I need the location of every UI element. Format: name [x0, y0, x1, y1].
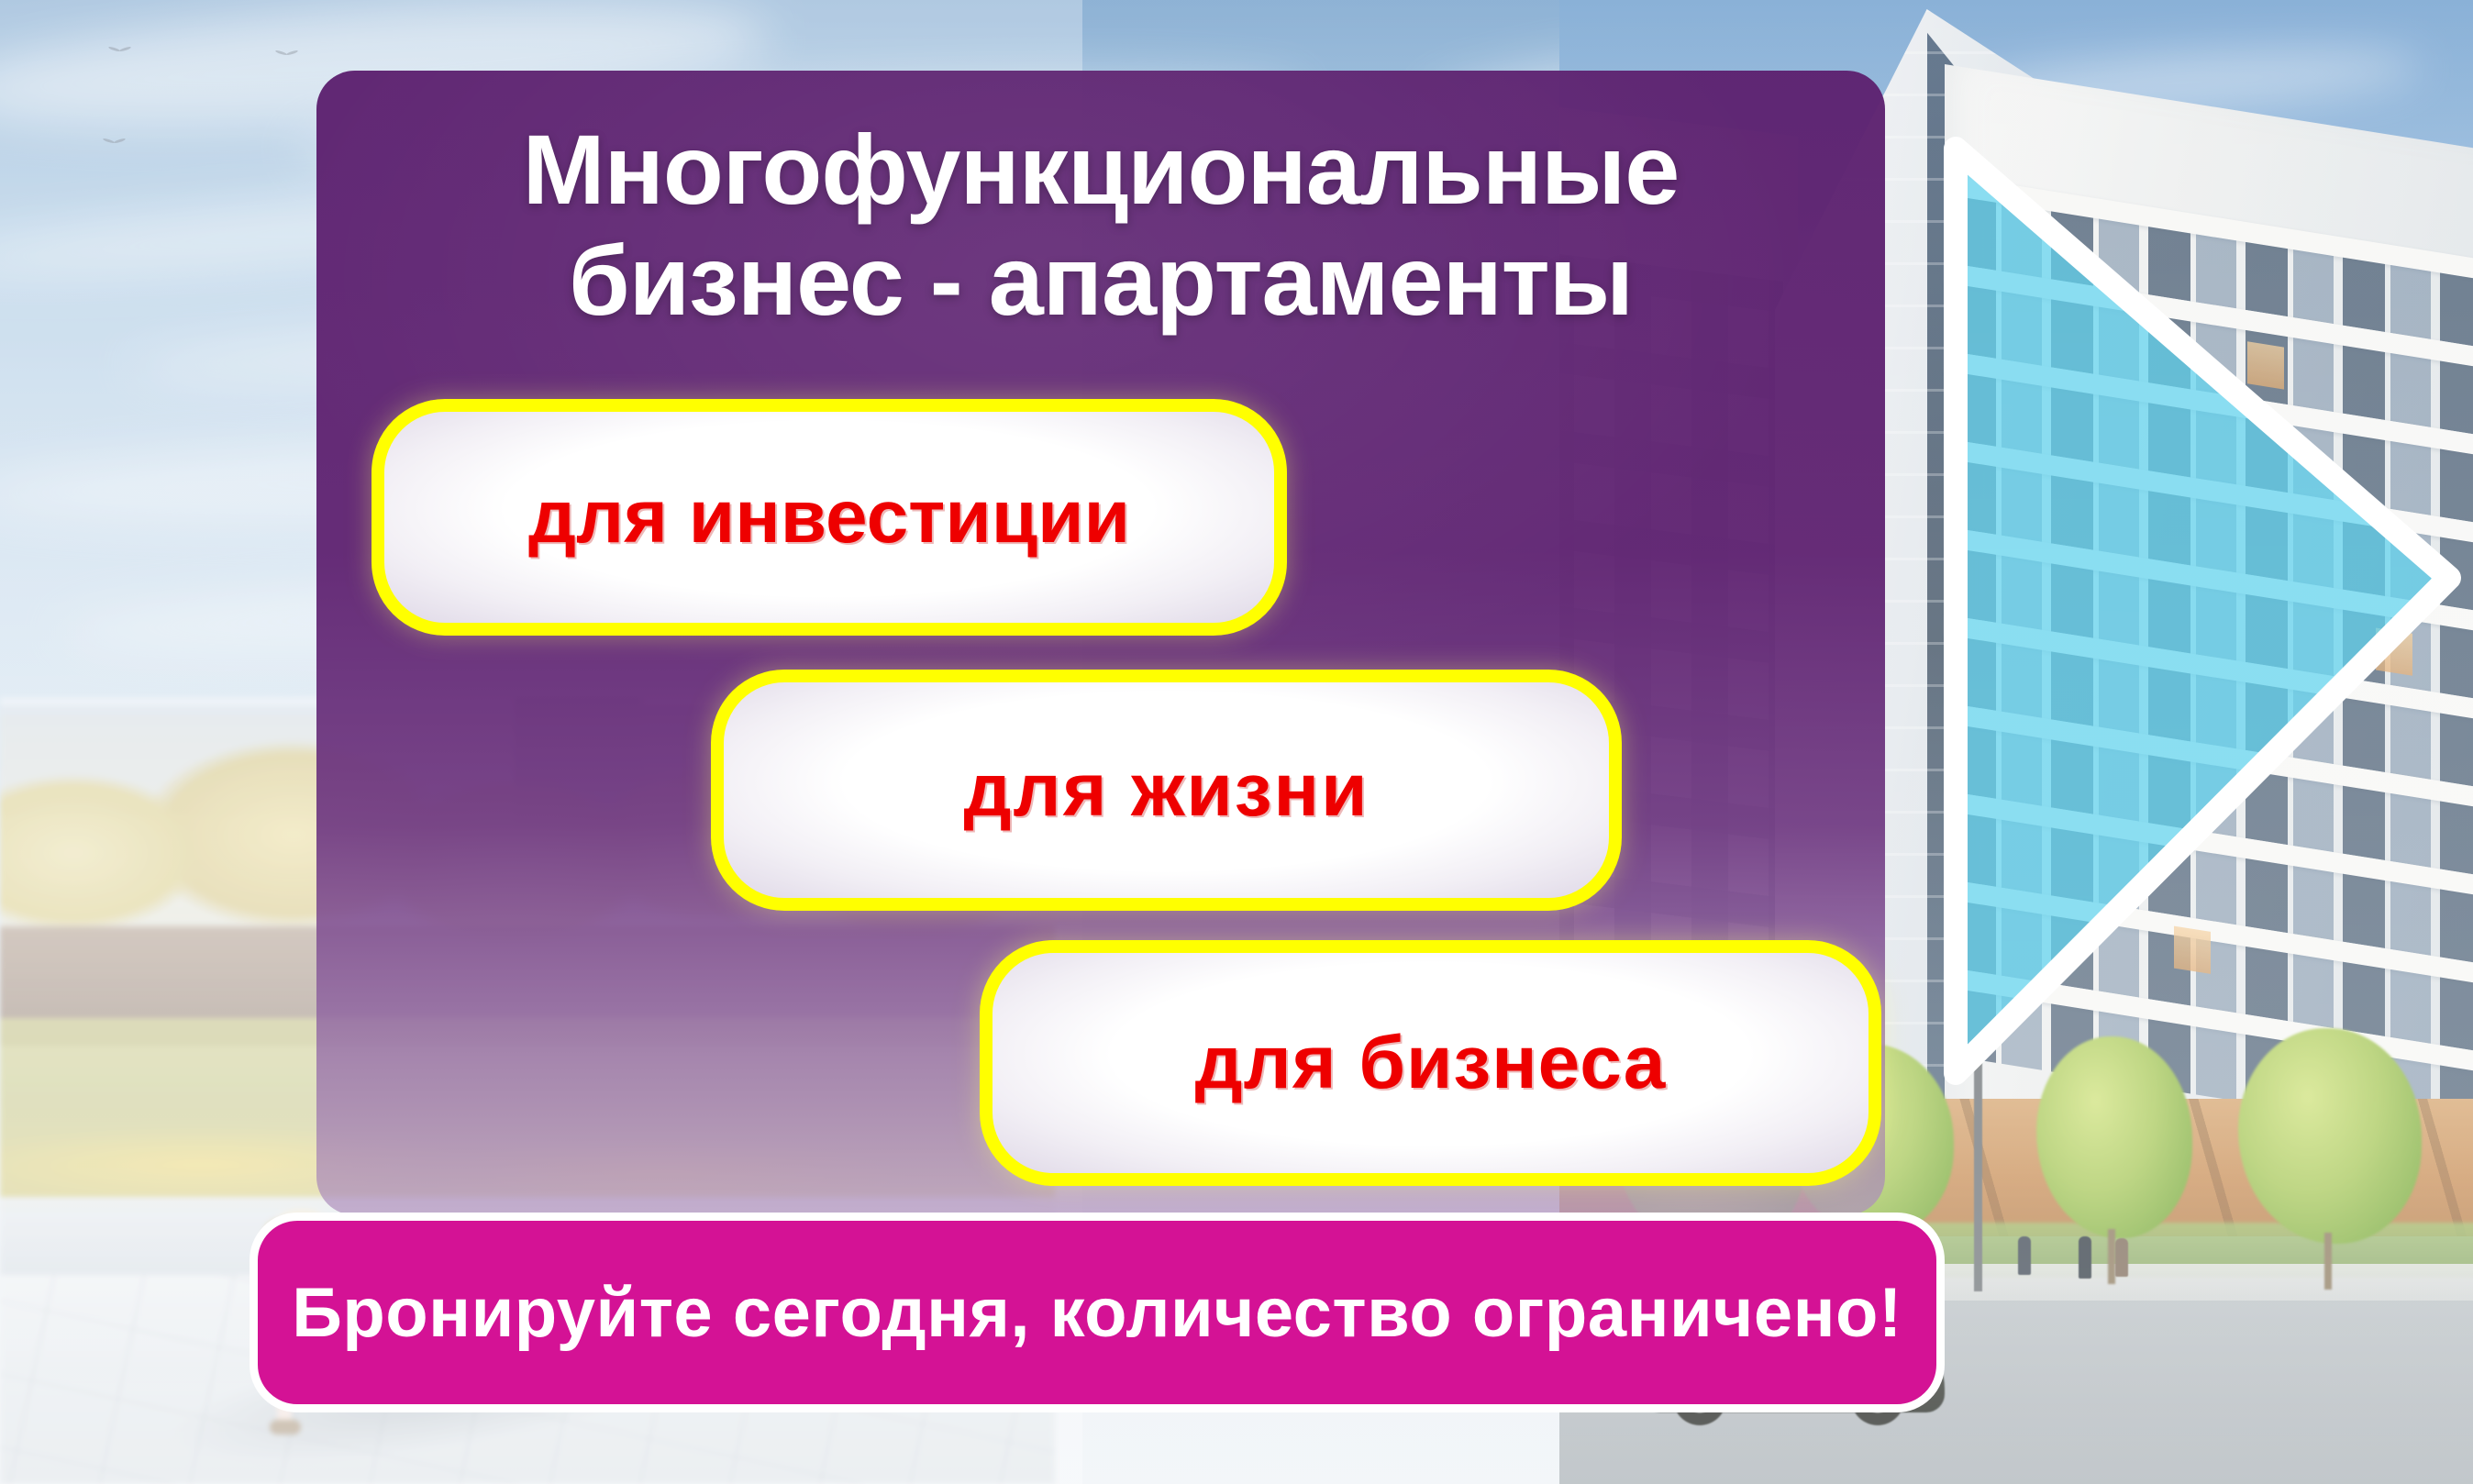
pill-business[interactable]: для бизнеса [980, 940, 1881, 1186]
bird-icon [108, 44, 132, 53]
pedestrian [2115, 1238, 2128, 1277]
banner-ad-canvas: Многофункциональные бизнес - апартаменты… [0, 0, 2473, 1484]
tree-trunk [2324, 1233, 2332, 1290]
bird-icon [275, 48, 299, 57]
page-title: Многофункциональные бизнес - апартаменты [316, 115, 1885, 337]
pedestrian [2018, 1236, 2031, 1275]
headline-line-1: Многофункциональные [523, 114, 1680, 225]
pill-investment[interactable]: для инвестиции [372, 399, 1287, 636]
cta-banner-label: Бронируйте сегодня, количество ограничен… [292, 1273, 1902, 1353]
bird-icon [103, 136, 127, 145]
cta-banner[interactable]: Бронируйте сегодня, количество ограничен… [250, 1213, 1945, 1412]
play-triangle-icon[interactable] [1935, 64, 2473, 1165]
pill-business-label: для бизнеса [1195, 1020, 1667, 1106]
pedestrian [2079, 1236, 2091, 1279]
headline-line-2: бизнес - апартаменты [316, 226, 1885, 337]
pill-investment-label: для инвестиции [528, 474, 1130, 560]
pill-living[interactable]: для жизни [711, 670, 1622, 911]
shoe [270, 1420, 301, 1434]
tree-trunk [2108, 1229, 2115, 1284]
pill-living-label: для жизни [963, 748, 1369, 834]
